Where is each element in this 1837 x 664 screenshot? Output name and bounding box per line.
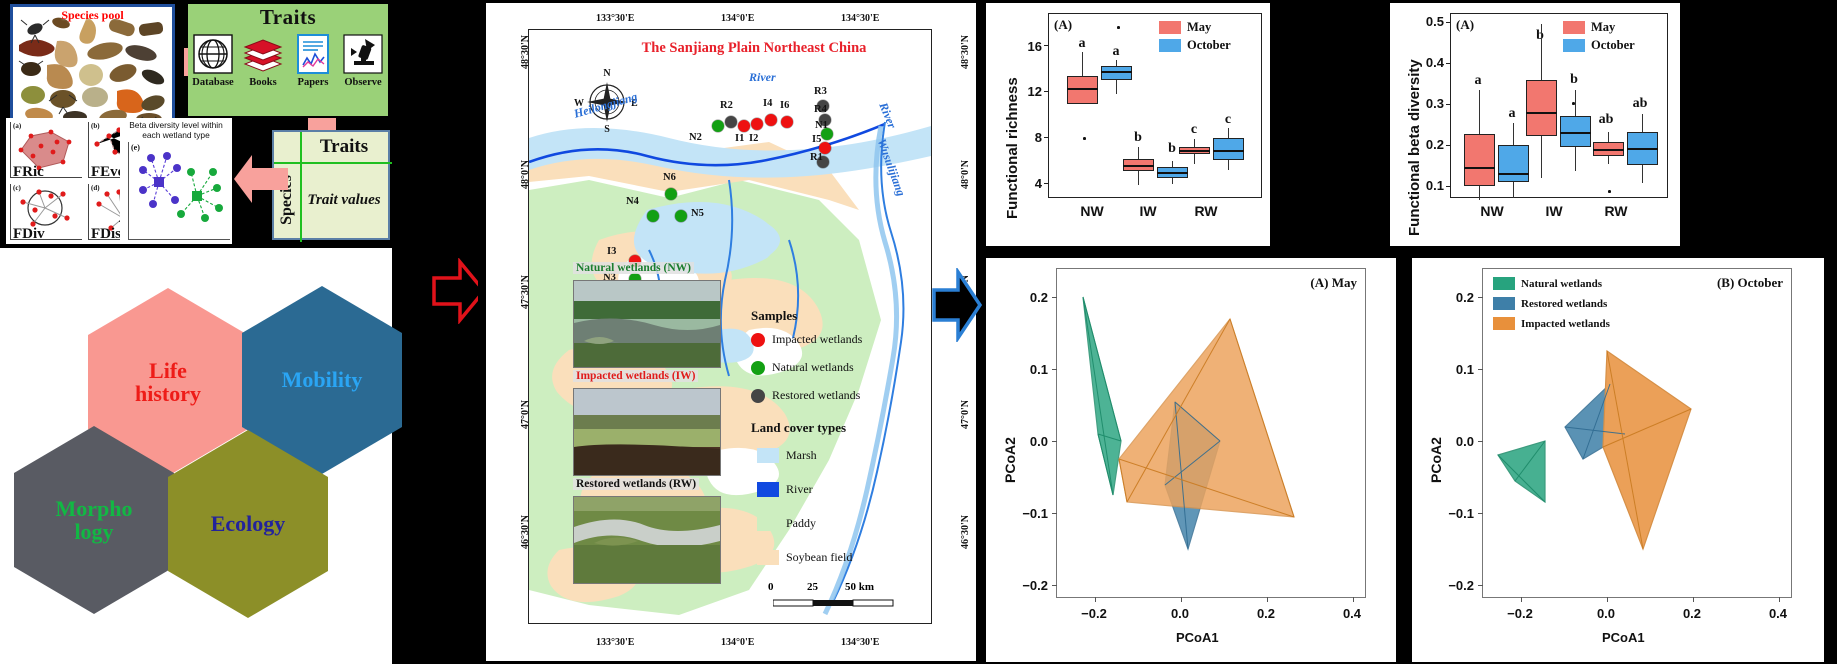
species-pool-title: Species pool — [13, 8, 172, 23]
fd-tag-e: (e) — [131, 143, 140, 152]
trait-source-label: Database — [191, 77, 235, 88]
legend-may: May — [1563, 20, 1615, 35]
y-tick-01: 0.1 — [1410, 178, 1444, 193]
x-axis-title: PCoA1 — [1602, 630, 1645, 645]
october-swatch-icon — [1159, 39, 1181, 52]
y-tick-04: 0.4 — [1410, 55, 1444, 70]
trait-source-label: Books — [241, 77, 285, 88]
sig-letter: a — [1105, 44, 1127, 60]
panel-label: (A) May — [1310, 275, 1357, 291]
observe-icon — [341, 31, 385, 76]
x-tick-NW: NW — [1062, 203, 1122, 219]
site-label-I6: I6 — [780, 100, 789, 111]
fd-label-fric: FRic — [13, 164, 44, 181]
x-tick-04: 0.4 — [1758, 606, 1798, 621]
site-label-I5: I5 — [812, 134, 821, 145]
site-marker-I2[interactable] — [751, 118, 763, 130]
hexagon-label: Morphology — [56, 497, 133, 543]
legend-label: October — [1591, 38, 1635, 53]
x-axis-title: PCoA1 — [1176, 630, 1219, 645]
photo-restored-wetlands — [573, 496, 721, 584]
x-tick-neg02: −0.2 — [1074, 606, 1114, 621]
beta-caption-line1: Beta diversity level within — [129, 120, 223, 130]
trait-source-database: Database — [191, 31, 235, 88]
legend-item-river: River — [757, 482, 813, 497]
soybean-swatch-icon — [757, 550, 779, 565]
svg-text:N: N — [603, 68, 611, 79]
traits-source-box: Traits Database — [188, 4, 388, 116]
legend-label: Paddy — [786, 516, 816, 531]
site-label-N4: N4 — [626, 196, 639, 207]
sig-letter: b — [1529, 28, 1551, 44]
paddy-swatch-icon — [757, 516, 779, 531]
matrix-col-header: Traits — [300, 132, 388, 162]
legend-label: River — [786, 482, 813, 497]
site-label-I2: I2 — [749, 133, 758, 144]
site-label-R4: R4 — [814, 104, 827, 115]
river-label-river-top: River — [749, 70, 776, 85]
plot-area-pcoa-october: (B) October Natural wetlands Restored we… — [1482, 268, 1792, 598]
x-tick-04: 0.4 — [1332, 606, 1372, 621]
site-label-I3: I3 — [607, 246, 616, 257]
site-label-R3: R3 — [814, 86, 827, 97]
arrow-left-pink-icon — [232, 152, 290, 206]
site-marker-I1[interactable] — [738, 120, 750, 132]
fd-cell-fdiv: (c) FDiv — [10, 184, 82, 240]
photo-caption-nw: Natural wetlands (NW) — [573, 262, 694, 274]
hull-impacted-wetlands — [1119, 319, 1294, 517]
scale-tick-2: 50 km — [845, 581, 874, 593]
y-tick-16: 16 — [1012, 39, 1042, 54]
legend-landcover-header: Land cover types — [751, 420, 846, 436]
pcoa-hull-layer-may — [1057, 269, 1365, 597]
box-NW-May — [1464, 134, 1495, 186]
site-label-N1: N1 — [815, 120, 828, 131]
x-tick-IW: IW — [1524, 203, 1584, 219]
outlier-point — [1608, 190, 1611, 193]
lon-tick-0: 133°30'E — [596, 13, 634, 24]
photo-caption-iw: Impacted wetlands (IW) — [573, 370, 698, 382]
marsh-swatch-icon — [757, 448, 779, 463]
legend-label: May — [1187, 20, 1211, 35]
x-tick-IW: IW — [1118, 203, 1178, 219]
paper-icon — [291, 31, 335, 76]
sig-letter: ab — [1625, 96, 1655, 112]
map-frame[interactable]: N S W E The Sanjiang Plain Northeast Chi… — [528, 29, 932, 624]
legend-natural-wetlands: Natural wetlands — [1493, 277, 1602, 290]
y-tick-12: 12 — [1012, 84, 1042, 99]
hexagon-label: Ecology — [211, 512, 286, 535]
october-swatch-icon — [1563, 39, 1585, 52]
x-tick-00: 0.0 — [1160, 606, 1200, 621]
y-tick-neg01: −0.1 — [1008, 506, 1048, 521]
site-label-I1: I1 — [735, 133, 744, 144]
species-pool-image: Species pool — [10, 4, 175, 130]
lon-tick-bottom-1: 134°0'E — [721, 637, 754, 648]
trait-source-observe: Observe — [341, 31, 385, 88]
y-tick-01: 0.1 — [1008, 362, 1048, 377]
site-label-I4: I4 — [763, 98, 772, 109]
restored-dot-icon — [751, 389, 765, 403]
lon-tick-bottom-2: 134°30'E — [841, 637, 879, 648]
sig-letter: a — [1467, 73, 1489, 89]
map-card: 133°30'E 134°0'E 134°30'E 133°30'E 134°0… — [486, 3, 976, 661]
outlier-point — [1083, 137, 1086, 140]
photo-caption-rw: Restored wetlands (RW) — [573, 478, 699, 490]
panel-label: (A) — [1456, 17, 1474, 33]
hull-impacted-wetlands — [1603, 351, 1691, 549]
legend-label: Natural wetlands — [1521, 278, 1602, 290]
y-tick-00: 0.0 — [1008, 434, 1048, 449]
chart-functional-beta-diversity: Functional beta diversity 0.5 0.4 0.3 0.… — [1390, 3, 1680, 246]
lat-tick-r4: 46°30'N — [960, 515, 971, 549]
photo-natural-wetlands — [573, 280, 721, 368]
natural-dot-icon — [751, 361, 765, 375]
photo-impacted-wetlands — [573, 388, 721, 476]
y-tick-02: 0.2 — [1008, 290, 1048, 305]
river-swatch-icon — [757, 482, 779, 497]
matrix-value-cell: Trait values — [300, 162, 388, 238]
fd-tag: (c) — [13, 184, 21, 192]
beta-caption-line2: each wetland type — [142, 130, 210, 140]
lat-tick-r1: 48°0'N — [960, 160, 971, 189]
site-marker-R2[interactable] — [725, 116, 737, 128]
legend-label: Marsh — [786, 448, 817, 463]
sig-letter: b — [1563, 72, 1585, 88]
y-tick-05: 0.5 — [1410, 14, 1444, 29]
beta-network-icon — [129, 142, 229, 234]
chart-pcoa-october: PCoA2 0.2 0.1 0.0 −0.1 −0.2 (B) October … — [1412, 258, 1824, 662]
panel-label: (B) October — [1717, 275, 1783, 291]
legend-impacted-wetlands: Impacted wetlands — [1493, 317, 1610, 330]
sig-letter: c — [1183, 122, 1205, 138]
y-tick-00: 0.0 — [1434, 434, 1474, 449]
lat-tick-r0: 48°30'N — [960, 35, 971, 69]
site-label-R1: R1 — [810, 152, 823, 163]
legend-item-marsh: Marsh — [757, 448, 817, 463]
site-marker-N2[interactable] — [712, 120, 724, 132]
trait-source-label: Papers — [291, 77, 335, 88]
chart-pcoa-may: PCoA2 0.2 0.1 0.0 −0.1 −0.2 (A) May — [986, 258, 1396, 662]
fd-label-fdis: FDis — [91, 226, 121, 243]
legend-may: May — [1159, 20, 1211, 35]
legend-item-restored: Restored wetlands — [751, 388, 860, 403]
box-RW-Oct — [1213, 138, 1244, 160]
legend-october: October — [1563, 38, 1635, 53]
x-tick-NW: NW — [1462, 203, 1522, 219]
site-marker-N6[interactable] — [665, 188, 677, 200]
legend-october: October — [1159, 38, 1231, 53]
y-tick-8: 8 — [1012, 130, 1042, 145]
legend-item-impacted: Impacted wetlands — [751, 332, 862, 347]
site-label-N6: N6 — [663, 172, 676, 183]
legend-samples-header: Samples — [751, 308, 797, 324]
lat-tick-r3: 47°0'N — [960, 400, 971, 429]
arrow-right-blue-icon — [930, 268, 984, 342]
y-tick-4: 4 — [1012, 176, 1042, 191]
chart-functional-richness: Functional richness 16 12 8 4 (A) May Oc… — [986, 3, 1270, 246]
may-swatch-icon — [1563, 21, 1585, 34]
map-title: The Sanjiang Plain Northeast China — [589, 40, 919, 57]
legend-label: Restored wetlands — [1521, 298, 1607, 310]
lon-tick-1: 134°0'E — [721, 13, 754, 24]
beta-diversity-panel: Beta diversity level within each wetland… — [120, 118, 232, 244]
legend-label: May — [1591, 20, 1615, 35]
legend-item-soybean: Soybean field — [757, 550, 852, 565]
trait-source-books: Books — [241, 31, 285, 88]
x-tick-neg02: −0.2 — [1500, 606, 1540, 621]
panel-label: (A) — [1054, 17, 1072, 33]
plot-area-functional-richness: (A) May October a a — [1048, 13, 1262, 198]
y-tick-02: 0.2 — [1434, 290, 1474, 305]
box-NW-Oct — [1498, 145, 1529, 182]
box-NW-Oct — [1101, 66, 1132, 80]
site-marker-I6[interactable] — [781, 116, 793, 128]
y-tick-neg02: −0.2 — [1008, 578, 1048, 593]
y-tick-neg02: −0.2 — [1434, 578, 1474, 593]
sig-letter: ab — [1591, 112, 1621, 128]
sig-letter: a — [1501, 106, 1523, 122]
x-tick-RW: RW — [1176, 203, 1236, 219]
hexagon-label: Mobility — [282, 368, 363, 391]
may-swatch-icon — [1159, 21, 1181, 34]
books-icon — [241, 31, 285, 76]
sig-letter: a — [1071, 36, 1093, 52]
sig-letter: b — [1127, 130, 1149, 146]
y-tick-02: 0.2 — [1410, 137, 1444, 152]
x-tick-02: 0.2 — [1246, 606, 1286, 621]
x-tick-RW: RW — [1586, 203, 1646, 219]
site-marker-N4[interactable] — [647, 210, 659, 222]
figure-canvas: Species pool — [0, 0, 1837, 664]
fd-cell-fric: (a) FRic — [10, 122, 82, 178]
impacted-dot-icon — [751, 333, 765, 347]
legend-restored-wetlands: Restored wetlands — [1493, 297, 1607, 310]
legend-item-paddy: Paddy — [757, 516, 816, 531]
box-IW-May — [1526, 80, 1557, 136]
legend-item-natural: Natural wetlands — [751, 360, 854, 375]
site-marker-I4[interactable] — [765, 114, 777, 126]
site-label-N2: N2 — [689, 132, 702, 143]
beta-diversity-caption: Beta diversity level within each wetland… — [122, 120, 230, 140]
legend-label: Impacted wetlands — [1521, 318, 1610, 330]
lon-tick-bottom-0: 133°30'E — [596, 637, 634, 648]
svg-text:S: S — [604, 124, 610, 134]
y-tick-neg01: −0.1 — [1434, 506, 1474, 521]
lon-tick-2: 134°30'E — [841, 13, 879, 24]
sig-letter: c — [1217, 112, 1239, 128]
legend-label: Natural wetlands — [772, 360, 854, 375]
legend-label: Impacted wetlands — [772, 332, 862, 347]
y-tick-01: 0.1 — [1434, 362, 1474, 377]
legend-label: Soybean field — [786, 550, 852, 565]
plot-area-pcoa-may: (A) May — [1056, 268, 1366, 598]
legend-label: Restored wetlands — [772, 388, 860, 403]
box-NW-May — [1067, 76, 1098, 104]
hexagon-label: Lifehistory — [135, 359, 201, 405]
natural-swatch-icon — [1493, 277, 1515, 290]
y-tick-03: 0.3 — [1410, 96, 1444, 111]
invertebrate-collage-icon — [13, 7, 172, 127]
fd-tag: (a) — [13, 122, 21, 130]
site-label-N5: N5 — [691, 208, 704, 219]
site-marker-N5[interactable] — [675, 210, 687, 222]
x-tick-02: 0.2 — [1672, 606, 1712, 621]
trait-source-label: Observe — [341, 77, 385, 88]
plot-area-beta-diversity: (A) May October a a — [1450, 13, 1668, 198]
scale-tick-0: 0 — [768, 581, 774, 593]
impacted-swatch-icon — [1493, 317, 1515, 330]
scale-bar: 0 25 50 km — [773, 596, 903, 617]
trait-source-papers: Papers — [291, 31, 335, 88]
restored-swatch-icon — [1493, 297, 1515, 310]
fd-tag: (d) — [91, 184, 100, 192]
site-label-R2: R2 — [720, 100, 733, 111]
legend-label: October — [1187, 38, 1231, 53]
globe-icon — [191, 31, 235, 76]
fd-label-fdiv: FDiv — [13, 226, 45, 243]
outlier-point — [1117, 26, 1120, 29]
hull-natural-wetlands — [1083, 297, 1121, 495]
study-area-map-panel: 133°30'E 134°0'E 134°30'E 133°30'E 134°0… — [478, 0, 983, 664]
trait-category-hexagons: Lifehistory Mobility Morphology Ecology — [0, 248, 392, 664]
x-tick-00: 0.0 — [1586, 606, 1626, 621]
traits-box-title: Traits — [188, 5, 388, 30]
scale-tick-1: 25 — [807, 581, 818, 593]
fd-tag: (b) — [91, 122, 100, 130]
